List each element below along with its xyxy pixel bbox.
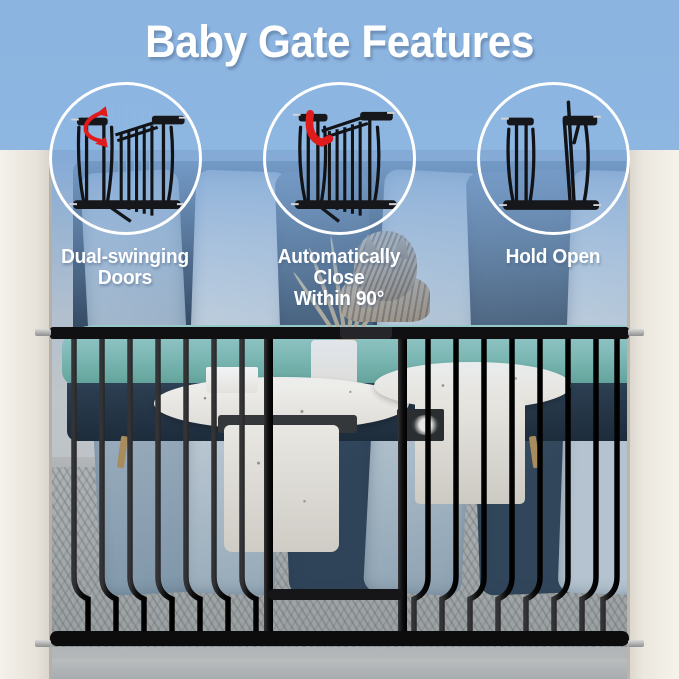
feature-caption: Automatically Close Within 90° [255,246,422,309]
feature-caption-line2: Doors [41,267,208,288]
gate-dual-swing-icon [49,82,202,235]
mount-bolt-top-left [35,329,51,336]
feature-caption-line1: Automatically Close [255,246,422,288]
page-title: Baby Gate Features [20,16,658,68]
feature-caption-line1: Hold Open [469,246,636,267]
mount-bolt-bottom-right [628,640,644,647]
feature-caption-line2: Within 90° [255,288,422,309]
feature-caption-line1: Dual-swinging [41,246,208,267]
feature-caption: Dual-swinging Doors [41,246,208,288]
floor-strip [50,659,629,679]
mount-bolt-bottom-left [35,640,51,647]
gate-auto-close-icon [263,82,416,235]
feature-caption: Hold Open [469,246,636,267]
gate-hold-open-icon [477,82,630,235]
mount-bolt-top-right [628,329,644,336]
baby-gate [50,327,629,651]
feature-automatically-close: Automatically Close Within 90° [249,82,429,309]
feature-hold-open: Hold Open [463,82,643,267]
feature-dual-swinging-doors: Dual-swinging Doors [35,82,215,288]
product-infographic: Baby Gate Features [0,0,679,679]
